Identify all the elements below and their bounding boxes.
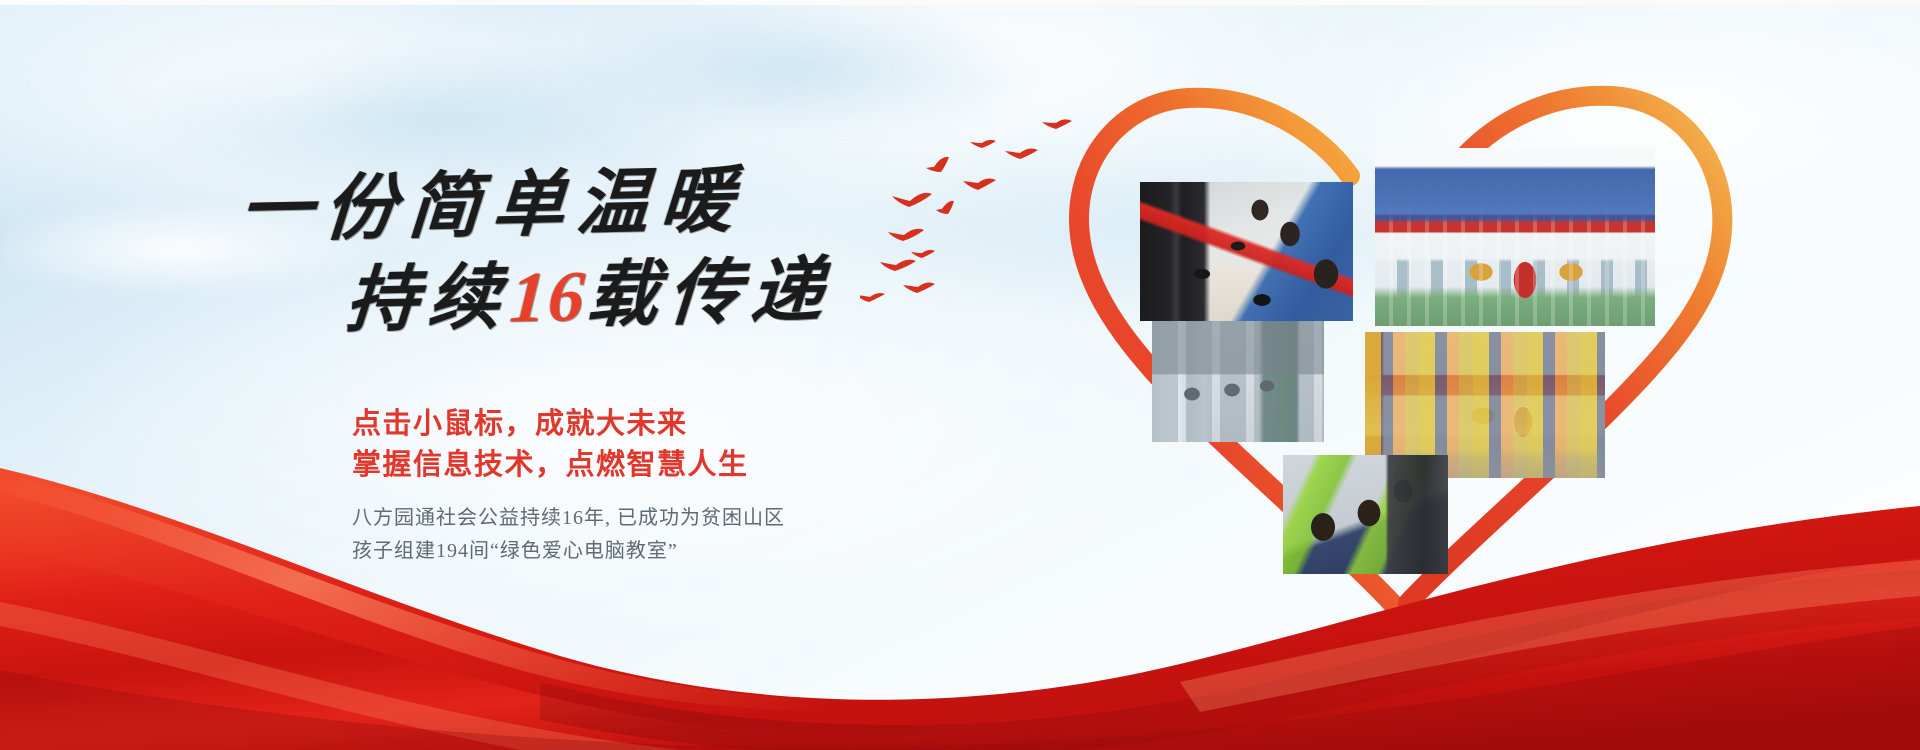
photo-boys-vests [1283, 455, 1448, 574]
headline-years-number: 16 [508, 256, 589, 338]
photo-school-group-image [1375, 148, 1655, 326]
headline-line-2-after: 载传递 [584, 251, 836, 336]
photo-boys-vests-image [1283, 455, 1448, 574]
photo-school-group [1375, 148, 1655, 326]
top-white-strip [0, 0, 1920, 5]
headline-line-1: 一份简单温暖 [238, 160, 964, 247]
headline-line-2: 持续16载传递 [344, 252, 964, 337]
photo-lab-closeup-image [1140, 182, 1353, 321]
red-silk-ribbon-icon [0, 420, 1920, 750]
charity-banner: 一份简单温暖 持续16载传递 点击小鼠标，成就大未来 掌握信息技术，点燃智慧人生… [0, 0, 1920, 750]
photo-classroom-wide [1152, 320, 1324, 442]
photo-classroom-wide-image [1152, 320, 1324, 442]
headline-block: 一份简单温暖 持续16载传递 [240, 175, 960, 337]
headline-line-2-before: 持续 [343, 258, 513, 341]
photo-lab-closeup [1140, 182, 1353, 321]
